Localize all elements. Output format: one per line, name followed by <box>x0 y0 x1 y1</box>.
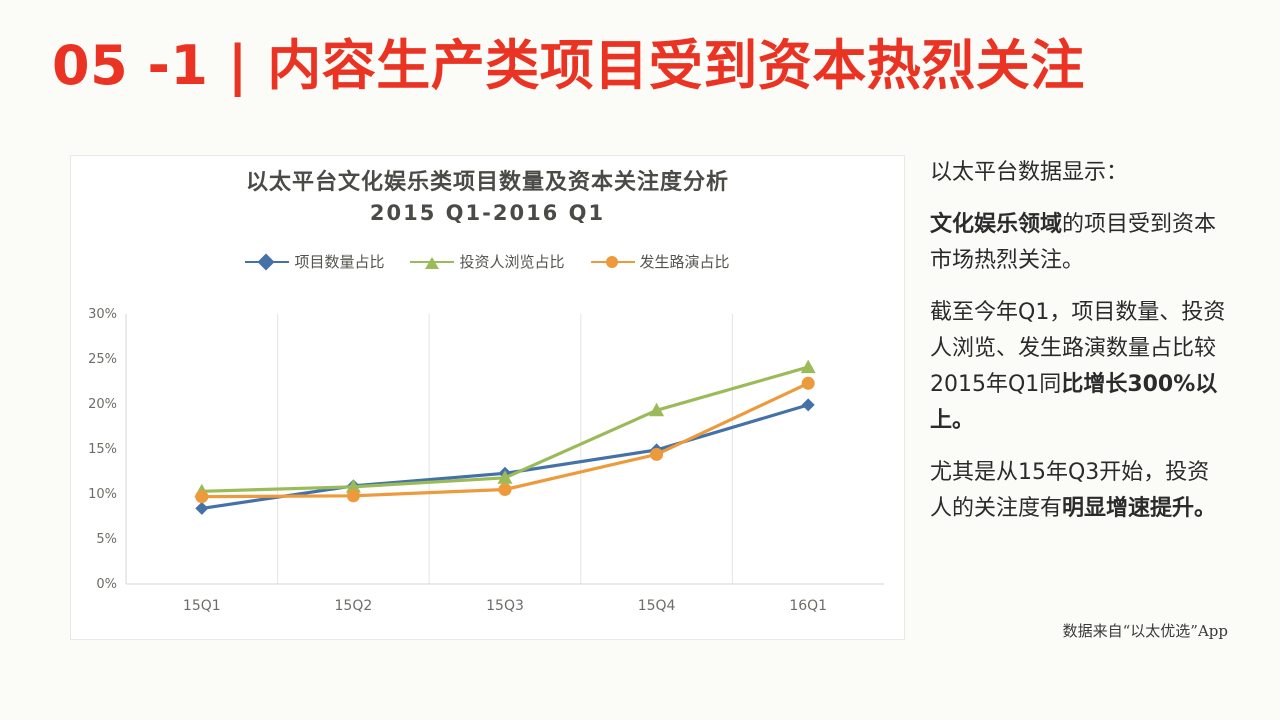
circle-marker-icon <box>606 256 618 268</box>
sidebar-paragraph-3: 截至今年Q1，项目数量、投资人浏览、发生路演数量占比较2015年Q1同比增长30… <box>930 295 1230 439</box>
x-axis-tick-label: 15Q3 <box>486 598 524 614</box>
data-point-marker <box>650 448 663 461</box>
chart-title-line-1: 以太平台文化娱乐类项目数量及资本关注度分析 <box>71 168 904 198</box>
chart-title-line-2: 2015 Q1-2016 Q1 <box>71 198 904 228</box>
legend-label-series-1: 投资人浏览占比 <box>459 251 564 272</box>
legend-swatch-line-icon <box>591 255 635 269</box>
diamond-marker-icon <box>258 253 275 270</box>
data-source-note: 数据来自“以太优选”App <box>1063 620 1228 641</box>
x-axis-tick-label: 16Q1 <box>789 598 827 614</box>
legend-swatch-line-icon <box>410 255 454 269</box>
sidebar-paragraph-2: 文化娱乐领域的项目受到资本市场热烈关注。 <box>930 207 1230 279</box>
chart-panel: 以太平台文化娱乐类项目数量及资本关注度分析 2015 Q1-2016 Q1 项目… <box>70 155 905 640</box>
sidebar-commentary: 以太平台数据显示： 文化娱乐领域的项目受到资本市场热烈关注。 截至今年Q1，项目… <box>930 155 1230 655</box>
y-axis-tick-label: 5% <box>96 532 117 547</box>
plot-area: 0%5%10%15%20%25%30%15Q115Q215Q315Q416Q1 <box>71 296 906 626</box>
legend-label-series-2: 发生路演占比 <box>640 251 730 272</box>
x-axis-tick-label: 15Q1 <box>183 598 221 614</box>
y-axis-tick-label: 0% <box>96 577 117 592</box>
data-point-marker <box>347 489 360 502</box>
sidebar-paragraph-1: 以太平台数据显示： <box>930 155 1230 191</box>
legend-item-series-0[interactable]: 项目数量占比 <box>245 251 384 272</box>
legend-item-series-2[interactable]: 发生路演占比 <box>591 251 730 272</box>
y-axis-tick-label: 20% <box>88 397 117 412</box>
y-axis-tick-label: 30% <box>88 307 117 322</box>
x-axis-tick-label: 15Q4 <box>638 598 676 614</box>
y-axis-tick-label: 15% <box>88 442 117 457</box>
legend-swatch-line-icon <box>245 255 289 269</box>
page-title: 05 -1 | 内容生产类项目受到资本热烈关注 <box>52 30 1232 102</box>
chart-title-block: 以太平台文化娱乐类项目数量及资本关注度分析 2015 Q1-2016 Q1 <box>71 168 904 228</box>
data-point-marker <box>499 483 512 496</box>
legend-label-series-0: 项目数量占比 <box>294 251 384 272</box>
data-point-marker <box>195 490 208 503</box>
triangle-marker-icon <box>425 257 439 269</box>
line-chart-svg: 0%5%10%15%20%25%30%15Q115Q215Q315Q416Q1 <box>71 296 906 626</box>
x-axis-tick-label: 15Q2 <box>335 598 373 614</box>
y-axis-tick-label: 25% <box>88 352 117 367</box>
data-point-marker <box>802 377 815 390</box>
y-axis-tick-label: 10% <box>88 487 117 502</box>
chart-legend: 项目数量占比 投资人浏览占比 发生路演占比 <box>71 251 904 272</box>
legend-item-series-1[interactable]: 投资人浏览占比 <box>410 251 564 272</box>
sidebar-paragraph-4: 尤其是从15年Q3开始，投资人的关注度有明显增速提升。 <box>930 455 1230 527</box>
